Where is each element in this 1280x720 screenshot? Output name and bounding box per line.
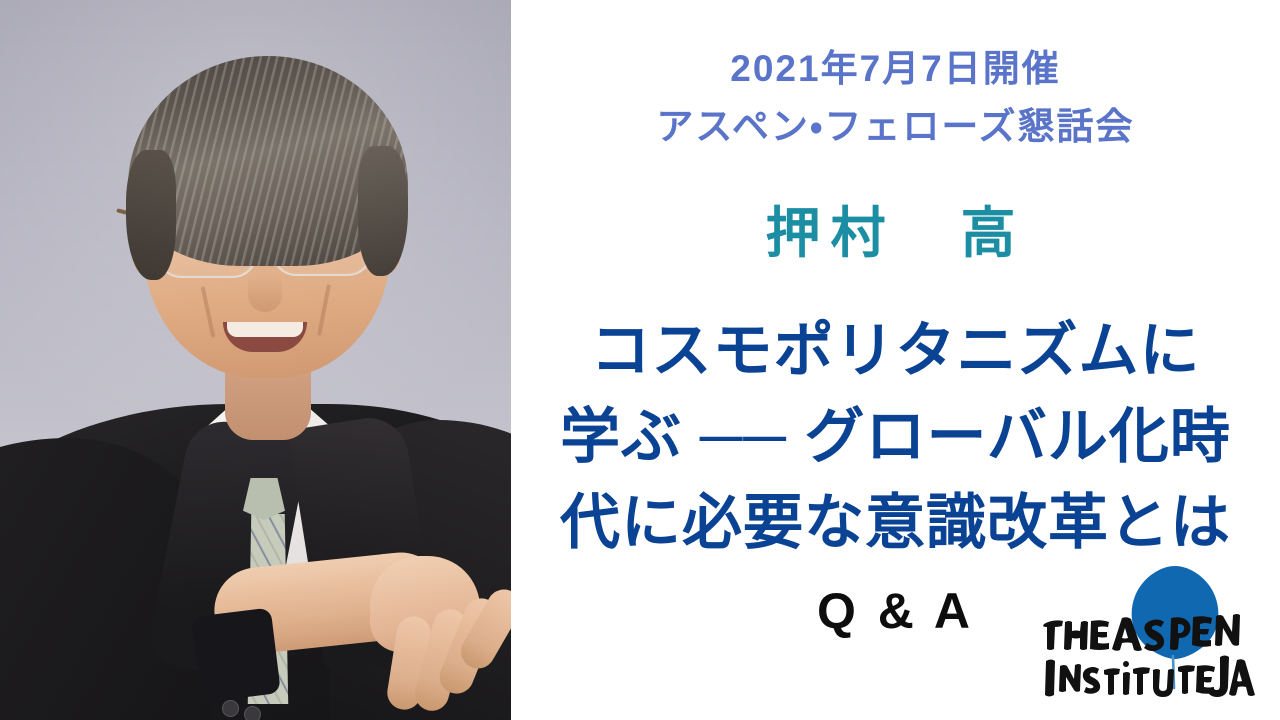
logo-wordmark-line-2 (1045, 656, 1255, 698)
speaker-portrait-photo (0, 0, 511, 720)
aspen-institute-japan-logo (1040, 556, 1256, 708)
hair-sideburn-left (126, 150, 176, 280)
jacket-button-top (222, 700, 239, 717)
jacket-button-bottom (244, 706, 261, 720)
event-date-line: 2021年7月7日開催 (511, 38, 1280, 92)
jacket-cuff (191, 607, 281, 702)
lecture-title-line-2: 学ぶ ── グローバル化時 (511, 388, 1280, 475)
slide-canvas: 2021年7月7日開催 アスペン・フェローズ懇話会 押村 高 コスモポリタニズム… (0, 0, 1280, 720)
hair-sideburn-right (358, 146, 408, 276)
lecture-title-line-1: コスモポリタニズムに (511, 302, 1280, 389)
teeth (227, 322, 303, 337)
event-name-line: アスペン・フェローズ懇話会 (511, 96, 1280, 150)
lecture-title-line-3: 代に必要な意識改革とは (511, 474, 1280, 561)
speaker-name: 押村 高 (511, 188, 1280, 268)
